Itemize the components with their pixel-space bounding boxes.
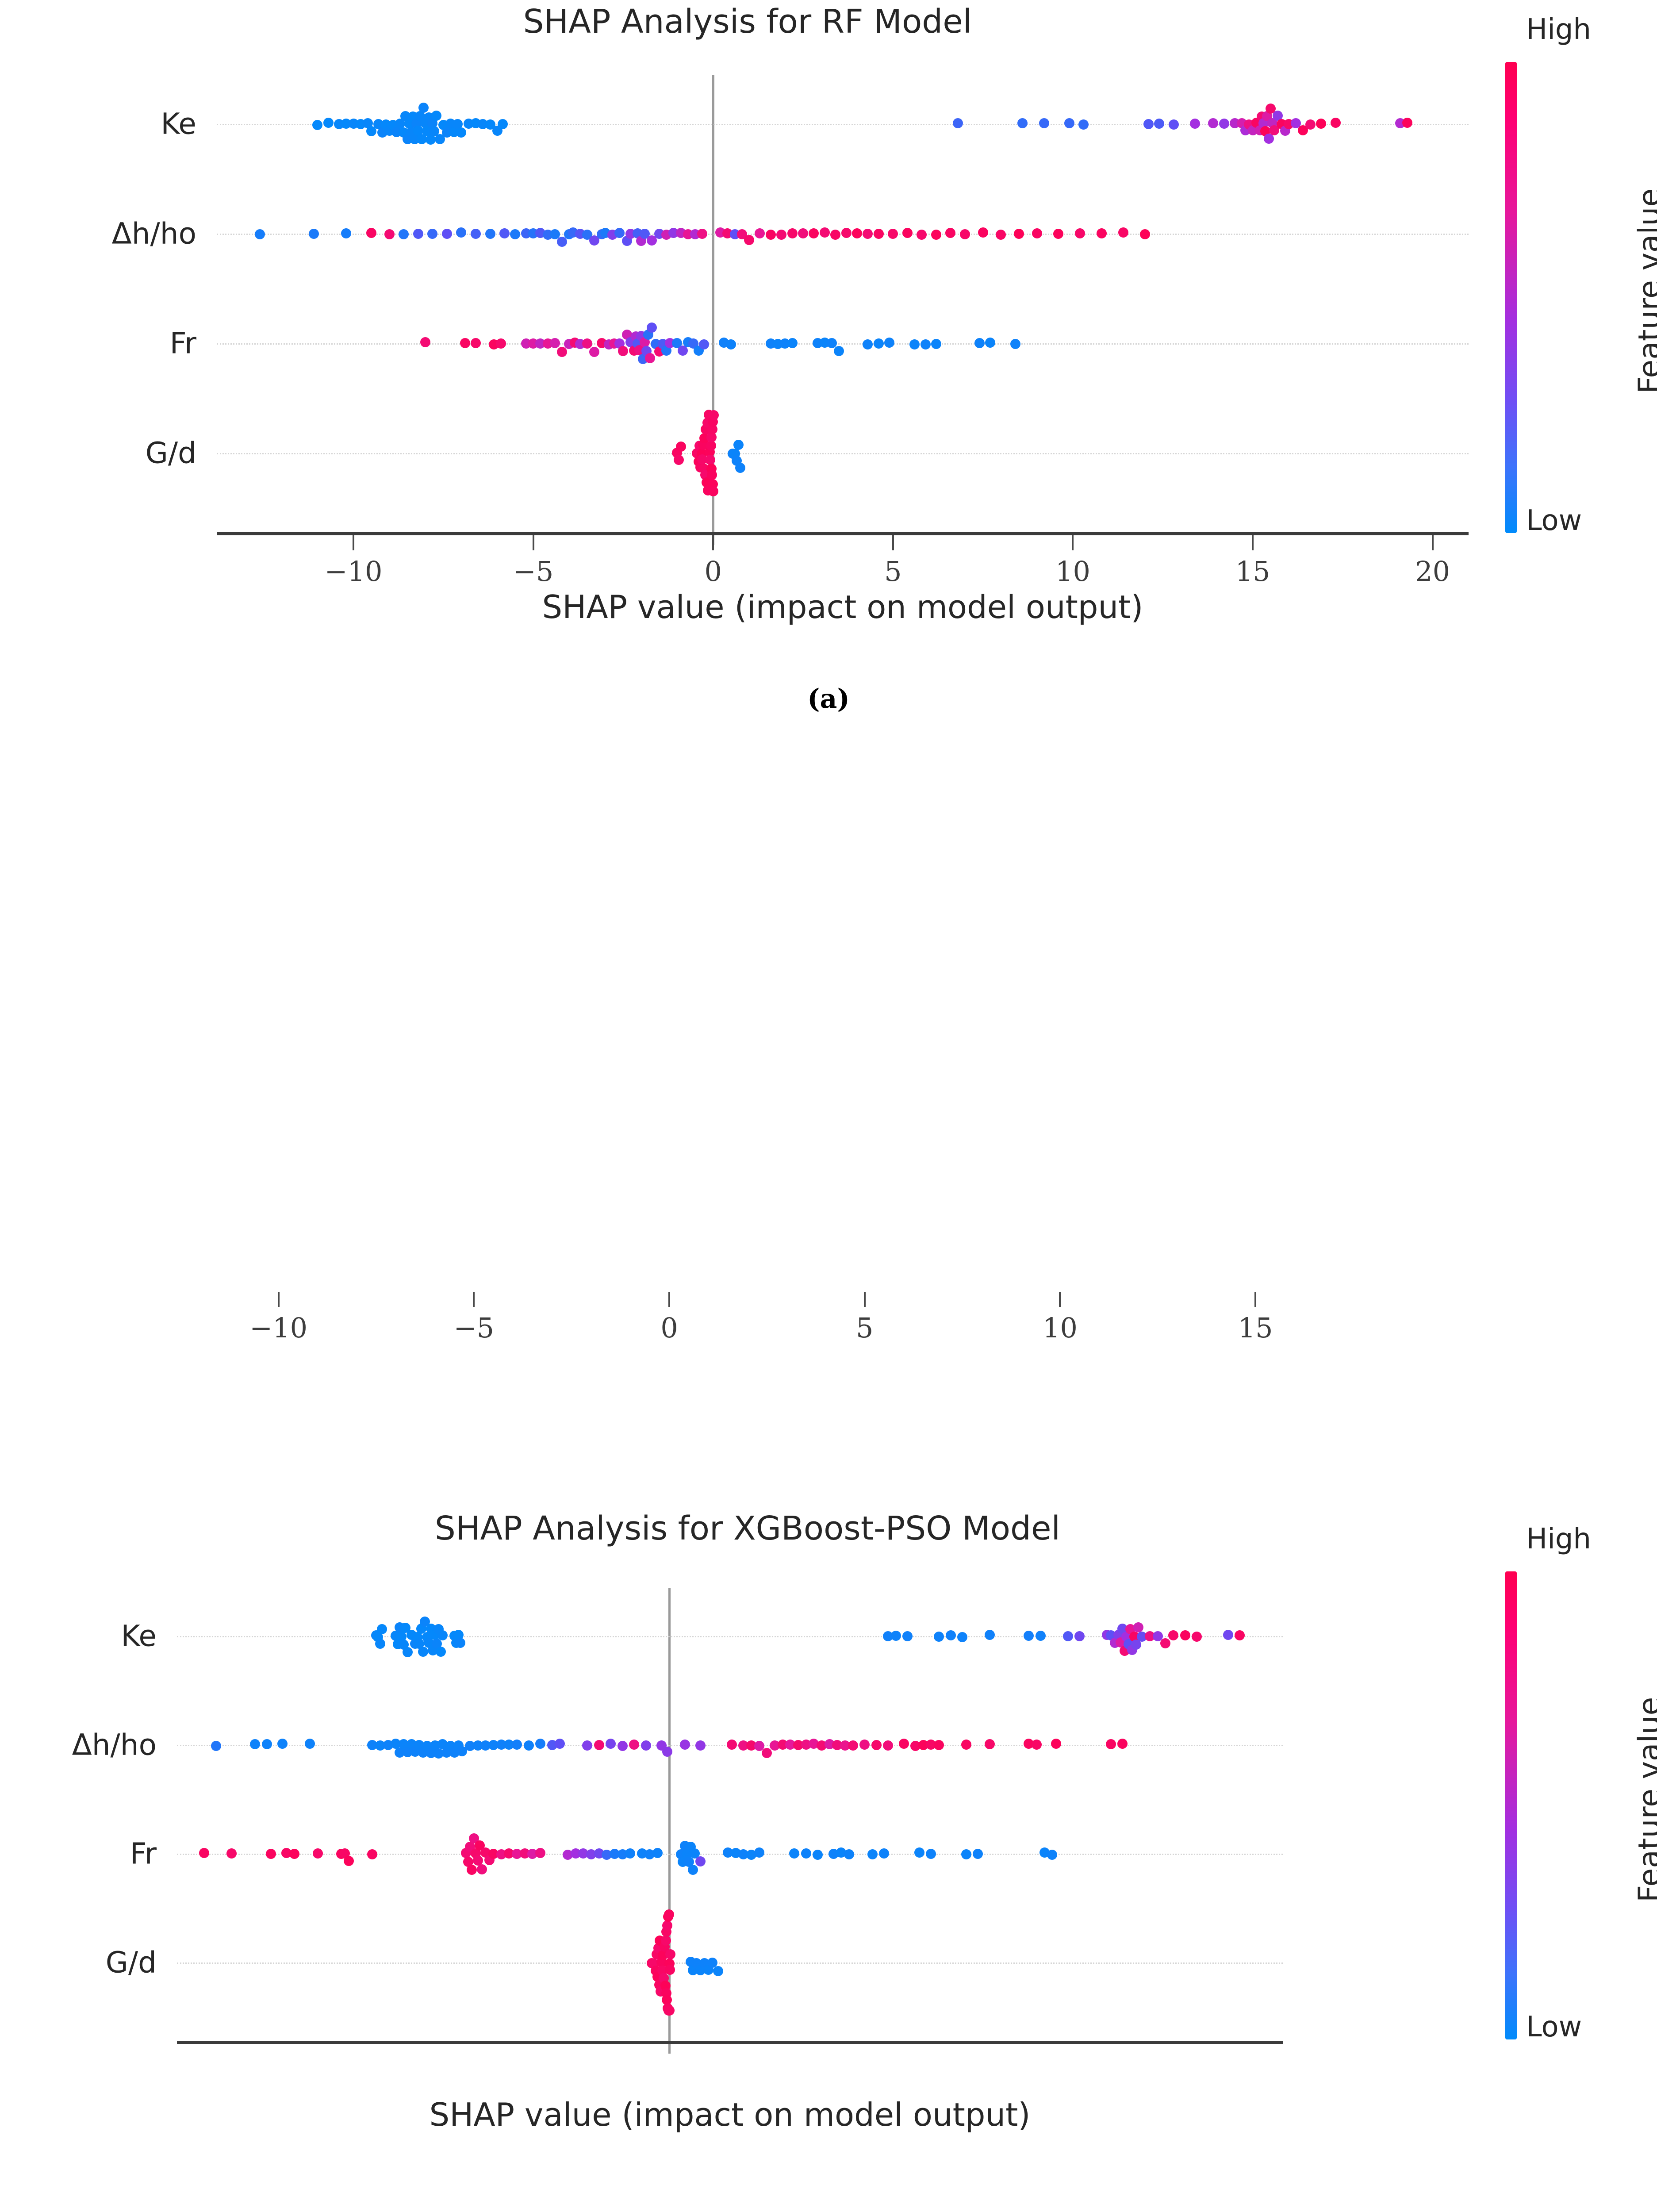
shap-dot — [1036, 1631, 1046, 1641]
shap-dot — [957, 1632, 967, 1642]
shap-dot — [431, 111, 441, 121]
panel-a-colorbar-high-label: High — [1526, 13, 1591, 46]
shap-dot — [413, 229, 423, 239]
shap-dot — [1223, 1630, 1233, 1640]
shap-dot — [652, 1848, 663, 1858]
shap-dot — [1032, 228, 1042, 238]
panel-b-x-axis-title: SHAP value (impact on model output) — [177, 2096, 1283, 2133]
shap-dot — [1140, 229, 1150, 239]
shap-dot — [678, 346, 688, 356]
shap-dot — [914, 1847, 924, 1858]
shap-dot — [902, 1631, 913, 1641]
feature-label-fr: Fr — [6, 326, 196, 361]
shap-dot — [921, 339, 931, 349]
shap-dot — [535, 1848, 545, 1858]
shap-dot — [485, 229, 495, 239]
shap-dot — [809, 228, 819, 238]
shap-dot — [1106, 1739, 1116, 1749]
shap-dot — [467, 1865, 477, 1875]
shap-figure: SHAP Analysis for RF Model KeΔh/hoFrG/d … — [0, 0, 1657, 1503]
feature-label-ke: Ke — [6, 1619, 157, 1653]
shap-dot — [403, 1647, 413, 1657]
shap-dot — [766, 230, 776, 240]
shap-dot — [945, 228, 955, 238]
shap-dot — [830, 230, 840, 240]
shap-dot — [618, 1741, 628, 1751]
shap-dot — [676, 442, 686, 452]
shap-dot — [863, 339, 873, 349]
shap-dot — [874, 229, 884, 239]
x-tick-label: −10 — [325, 555, 383, 588]
shap-dot — [755, 228, 765, 238]
shap-dot — [946, 1630, 956, 1640]
shap-dot — [1053, 229, 1063, 239]
shap-dot — [820, 227, 830, 238]
shap-dot — [776, 230, 786, 240]
shap-dot — [455, 1638, 465, 1648]
shap-dot — [985, 338, 995, 348]
x-tick — [278, 1292, 280, 1307]
shap-dot — [1402, 118, 1412, 128]
shap-dot — [1168, 1630, 1178, 1640]
shap-dot — [909, 339, 920, 349]
x-tick-label: −5 — [454, 1312, 494, 1344]
shap-dot — [801, 1848, 811, 1859]
shap-dot — [313, 1848, 323, 1859]
shap-dot — [680, 1740, 690, 1750]
panel-a-title: SHAP Analysis for RF Model — [0, 3, 1495, 41]
shap-dot — [341, 228, 351, 238]
shap-dot — [879, 1848, 889, 1859]
x-tick-label: 5 — [856, 1312, 873, 1344]
feature-label-hho: Δh/ho — [6, 1728, 157, 1762]
shap-dot — [312, 120, 322, 130]
x-tick — [1432, 535, 1434, 550]
shap-dot — [708, 486, 718, 496]
shap-dot — [713, 1966, 723, 1976]
shap-dot — [665, 1965, 675, 1975]
shap-dot — [695, 1856, 706, 1866]
shap-dot — [1190, 119, 1200, 129]
shap-dot — [707, 470, 717, 480]
shap-dot — [535, 1739, 545, 1749]
shap-dot — [456, 227, 466, 238]
shap-dot — [863, 229, 873, 239]
panel-a-colorbar-low-label: Low — [1526, 504, 1582, 537]
shap-dot — [437, 1630, 448, 1640]
shap-dot — [524, 1740, 534, 1751]
shap-dot — [606, 1739, 616, 1749]
shap-dot — [844, 1849, 854, 1859]
shap-dot — [848, 1740, 858, 1751]
shap-dot — [789, 1848, 799, 1859]
shap-dot — [323, 118, 334, 128]
shap-dot — [662, 1920, 672, 1931]
shap-dot — [1024, 1631, 1034, 1641]
shap-dot — [427, 229, 437, 239]
panel-a: SHAP Analysis for RF Model KeΔh/hoFrG/d … — [0, 0, 1657, 752]
row-gridline — [177, 1962, 1283, 1964]
shap-dot — [961, 1849, 971, 1859]
shap-dot — [266, 1849, 276, 1859]
shap-dot — [1235, 1630, 1245, 1640]
shap-dot — [550, 338, 560, 348]
x-tick-label: 0 — [660, 1312, 678, 1344]
shap-dot — [902, 228, 913, 238]
shap-dot — [985, 1739, 995, 1749]
shap-dot — [625, 1848, 635, 1859]
shap-dot — [961, 1740, 971, 1750]
shap-dot — [499, 228, 510, 238]
shap-dot — [1039, 118, 1049, 128]
panel-b: SHAP Analysis for XGBoost-PSO Model KeΔh… — [0, 752, 1657, 1503]
shap-dot — [834, 346, 844, 356]
shap-dot — [697, 229, 707, 239]
panel-b-plot-area: KeΔh/hoFrG/d — [177, 1588, 1283, 2039]
shap-dot — [510, 229, 520, 239]
shap-dot — [985, 1630, 995, 1640]
shap-dot — [813, 1850, 823, 1860]
shap-dot — [974, 338, 985, 348]
shap-dot — [305, 1739, 315, 1749]
shap-dot — [664, 1909, 674, 1920]
shap-dot — [1010, 339, 1020, 349]
shap-dot — [647, 323, 657, 333]
shap-dot — [1117, 1739, 1128, 1749]
shap-dot — [841, 228, 852, 238]
shap-dot — [1169, 119, 1179, 130]
shap-dot — [344, 1856, 354, 1866]
shap-dot — [420, 337, 430, 347]
shap-dot — [1097, 228, 1107, 238]
shap-dot — [582, 1740, 592, 1751]
x-tick-label: 10 — [1055, 555, 1090, 588]
shap-dot — [931, 230, 941, 240]
shap-dot — [582, 338, 592, 349]
x-tick — [712, 535, 714, 550]
shap-dot — [399, 229, 409, 239]
x-tick — [892, 535, 894, 550]
row-gridline — [217, 453, 1469, 454]
shap-dot — [859, 1740, 870, 1750]
shap-dot — [1133, 1622, 1143, 1632]
shap-dot — [436, 1647, 446, 1657]
shap-dot — [471, 229, 481, 239]
x-tick — [1059, 1292, 1061, 1307]
shap-dot — [555, 1739, 565, 1749]
shap-dot — [735, 463, 745, 473]
x-tick — [533, 535, 534, 550]
shap-dot — [665, 1949, 675, 1959]
shap-dot — [375, 1639, 385, 1649]
shap-dot — [618, 346, 628, 356]
x-tick-label: 0 — [705, 555, 722, 588]
shap-dot — [1143, 119, 1154, 129]
feature-label-hho: Δh/ho — [6, 217, 196, 251]
shap-dot — [1078, 119, 1089, 130]
shap-dot — [1160, 1638, 1170, 1648]
shap-dot — [695, 1740, 706, 1751]
shap-dot — [557, 347, 567, 357]
shap-dot — [309, 229, 319, 239]
shap-dot — [978, 227, 988, 238]
shap-dot — [418, 103, 429, 113]
shap-dot — [884, 338, 894, 348]
shap-dot — [664, 2005, 675, 2016]
shap-dot — [899, 1739, 909, 1749]
shap-dot — [512, 1740, 522, 1750]
feature-label-ke: Ke — [6, 107, 196, 141]
shap-dot — [1208, 118, 1218, 128]
shap-dot — [1219, 119, 1229, 129]
shap-dot — [460, 338, 470, 348]
shap-dot — [688, 1865, 698, 1875]
shap-dot — [1032, 1740, 1042, 1750]
shap-dot — [199, 1848, 209, 1858]
shap-dot — [1047, 1850, 1057, 1860]
x-tick-label: 20 — [1415, 555, 1450, 588]
shap-dot — [377, 1624, 387, 1634]
shap-dot — [787, 338, 798, 348]
feature-label-fr: Fr — [6, 1837, 157, 1871]
shap-dot — [289, 1849, 299, 1859]
panel-b-colorbar-title: Feature value — [1632, 1697, 1657, 1902]
panel-b-title: SHAP Analysis for XGBoost-PSO Model — [0, 1509, 1495, 1548]
shap-dot — [727, 1740, 737, 1750]
shap-dot — [874, 338, 884, 349]
panel-a-x-axis-title: SHAP value (impact on model output) — [217, 588, 1469, 626]
shap-dot — [1118, 227, 1128, 238]
shap-dot — [645, 353, 655, 363]
x-tick-label: 5 — [884, 555, 901, 588]
row-gridline — [217, 343, 1469, 345]
shap-dot — [960, 229, 970, 239]
panel-b-colorbar-low-label: Low — [1526, 2011, 1582, 2043]
shap-dot — [498, 119, 508, 129]
shap-dot — [661, 1935, 671, 1946]
shap-dot — [471, 338, 481, 348]
shap-dot — [589, 347, 599, 357]
shap-dot — [456, 127, 466, 138]
shap-dot — [744, 235, 754, 245]
shap-dot — [477, 1864, 487, 1874]
shap-dot — [891, 1631, 901, 1641]
shap-dot — [1180, 1630, 1190, 1640]
shap-dot — [594, 1740, 604, 1750]
x-tick — [1254, 1292, 1256, 1307]
shap-dot — [883, 1740, 893, 1751]
panel-a-x-axis-line — [217, 532, 1469, 535]
shap-dot — [1074, 1631, 1085, 1641]
shap-dot — [250, 1739, 260, 1749]
shap-dot — [1063, 1631, 1073, 1641]
shap-dot — [1075, 228, 1085, 238]
x-tick — [473, 1292, 475, 1307]
x-tick-label: 15 — [1235, 555, 1270, 588]
shap-dot — [211, 1741, 221, 1751]
shap-dot — [629, 1740, 639, 1750]
shap-dot — [614, 228, 625, 238]
shap-dot — [852, 228, 862, 238]
x-tick-label: −10 — [249, 1312, 307, 1344]
shap-dot — [934, 1632, 944, 1642]
shap-dot — [1014, 229, 1024, 239]
x-tick — [353, 535, 354, 550]
panel-a-colorbar — [1505, 62, 1517, 533]
shap-dot — [699, 339, 709, 349]
shap-dot — [1017, 118, 1028, 128]
shap-dot — [1064, 118, 1074, 128]
shap-dot — [709, 410, 719, 420]
shap-dot — [262, 1739, 272, 1749]
feature-label-gd: G/d — [6, 436, 196, 470]
shap-dot — [1316, 119, 1326, 129]
shap-dot — [496, 338, 506, 349]
shap-dot — [733, 440, 744, 450]
x-tick-label: 10 — [1043, 1312, 1078, 1344]
x-tick-label: 15 — [1238, 1312, 1273, 1344]
shap-dot — [996, 230, 1006, 240]
x-tick — [1252, 535, 1254, 550]
shap-dot — [255, 229, 265, 239]
panel-a-caption: (a) — [0, 684, 1657, 714]
shap-dot — [442, 229, 452, 239]
shap-dot — [226, 1848, 237, 1859]
panel-a-plot-area: KeΔh/hoFrG/d — [217, 75, 1469, 531]
shap-dot — [762, 1748, 772, 1758]
panel-a-colorbar-title: Feature value — [1632, 188, 1657, 394]
shap-dot — [931, 339, 941, 349]
shap-dot — [418, 1647, 428, 1657]
shap-dot — [367, 1849, 377, 1859]
shap-dot — [871, 1740, 882, 1750]
panel-b-colorbar — [1505, 1571, 1517, 2039]
shap-dot — [726, 339, 736, 349]
shap-dot — [1305, 119, 1316, 130]
panel-b-x-axis-line — [177, 2041, 1283, 2044]
shap-dot — [277, 1739, 288, 1749]
shap-dot — [754, 1847, 764, 1858]
x-tick — [668, 1292, 670, 1307]
shap-dot — [1331, 118, 1341, 128]
shap-dot — [366, 228, 376, 238]
x-tick — [1072, 535, 1074, 550]
shap-dot — [1154, 119, 1164, 129]
shap-dot — [926, 1849, 936, 1859]
shap-dot — [867, 1849, 878, 1859]
shap-dot — [674, 455, 684, 465]
shap-dot — [934, 1740, 944, 1750]
shap-dot — [787, 228, 798, 238]
shap-dot — [641, 1740, 651, 1751]
panel-b-colorbar-high-label: High — [1526, 1523, 1591, 1555]
feature-label-gd: G/d — [6, 1946, 157, 1980]
shap-dot — [1192, 1632, 1202, 1642]
shap-dot — [888, 229, 898, 239]
shap-dot — [1051, 1739, 1061, 1749]
x-tick — [864, 1292, 866, 1307]
x-tick-label: −5 — [513, 555, 553, 588]
shap-dot — [662, 1747, 672, 1757]
shap-dot — [798, 228, 808, 238]
shap-dot — [953, 118, 963, 128]
shap-dot — [384, 229, 395, 239]
shap-dot — [917, 230, 927, 240]
shap-dot — [973, 1849, 983, 1859]
